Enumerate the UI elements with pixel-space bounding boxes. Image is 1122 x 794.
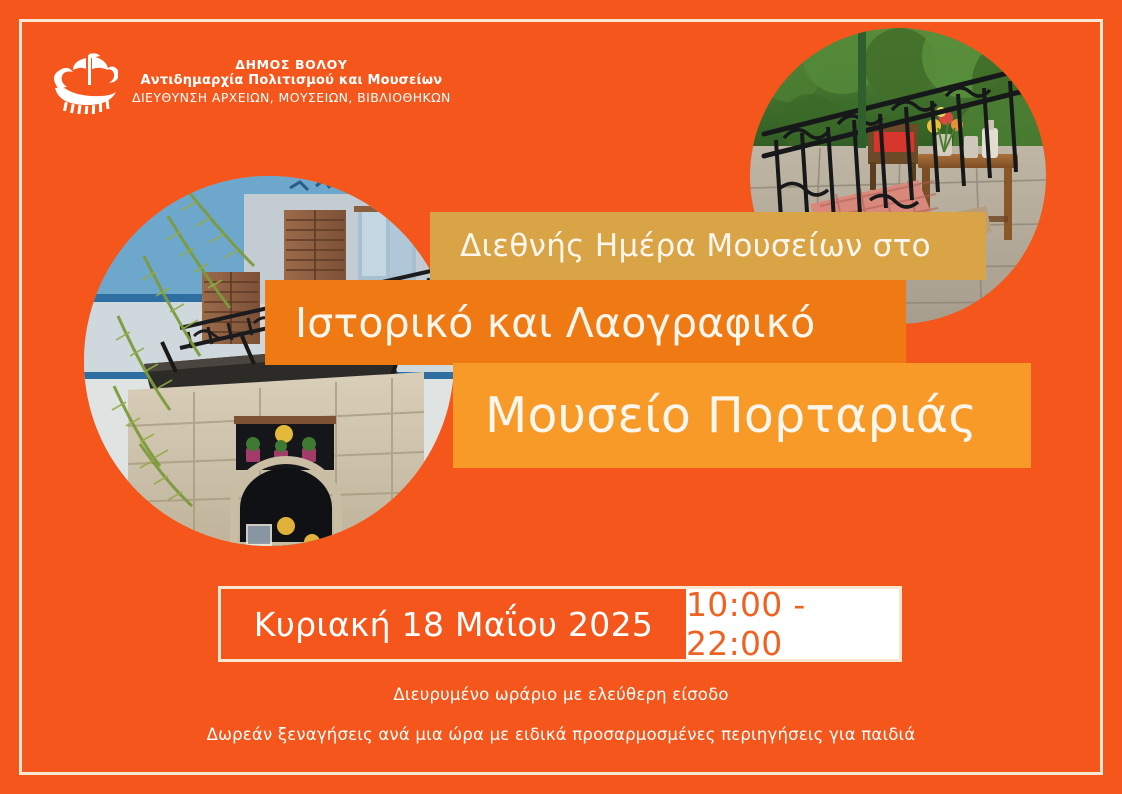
event-poster: ΔΗΜΟΣ ΒΟΛΟΥ Αντιδημαρχία Πολιτισμού και … xyxy=(0,0,1122,794)
logo-line-municipality: ΔΗΜΟΣ ΒΟΛΟΥ xyxy=(132,57,451,73)
footer-notes: Διευρυμένο ωράριο με ελεύθερη είσοδο Δωρ… xyxy=(0,686,1122,744)
title-eyebrow-text: Διεθνής Ημέρα Μουσείων στο xyxy=(460,228,931,264)
ancient-greek-ship-icon xyxy=(52,52,118,114)
title-band-line2: Μουσείο Πορταριάς xyxy=(453,363,1031,468)
title-line2-text: Μουσείο Πορταριάς xyxy=(485,387,977,444)
title-band-line1: Ιστορικό και Λαογραφικό xyxy=(265,280,906,365)
note-guided-tours: Δωρεάν ξεναγήσεις ανά μια ώρα με ειδικά … xyxy=(0,726,1122,744)
event-date: Κυριακή 18 Μαΐου 2025 xyxy=(221,589,686,659)
logo-line-division: ΔΙΕΥΘΥΝΣΗ ΑΡΧΕΙΩΝ, ΜΟΥΣΕΙΩΝ, ΒΙΒΛΙΟΘΗΚΩΝ xyxy=(132,90,451,106)
event-datetime-box: Κυριακή 18 Μαΐου 2025 10:00 - 22:00 xyxy=(218,586,902,662)
note-free-entry: Διευρυμένο ωράριο με ελεύθερη είσοδο xyxy=(0,686,1122,704)
logo-line-department: Αντιδημαρχία Πολιτισμού και Μουσείων xyxy=(132,73,451,90)
title-line1-text: Ιστορικό και Λαογραφικό xyxy=(295,299,815,347)
municipality-logo: ΔΗΜΟΣ ΒΟΛΟΥ Αντιδημαρχία Πολιτισμού και … xyxy=(52,52,451,114)
event-time: 10:00 - 22:00 xyxy=(686,589,899,659)
title-band-eyebrow: Διεθνής Ημέρα Μουσείων στο xyxy=(430,212,986,280)
